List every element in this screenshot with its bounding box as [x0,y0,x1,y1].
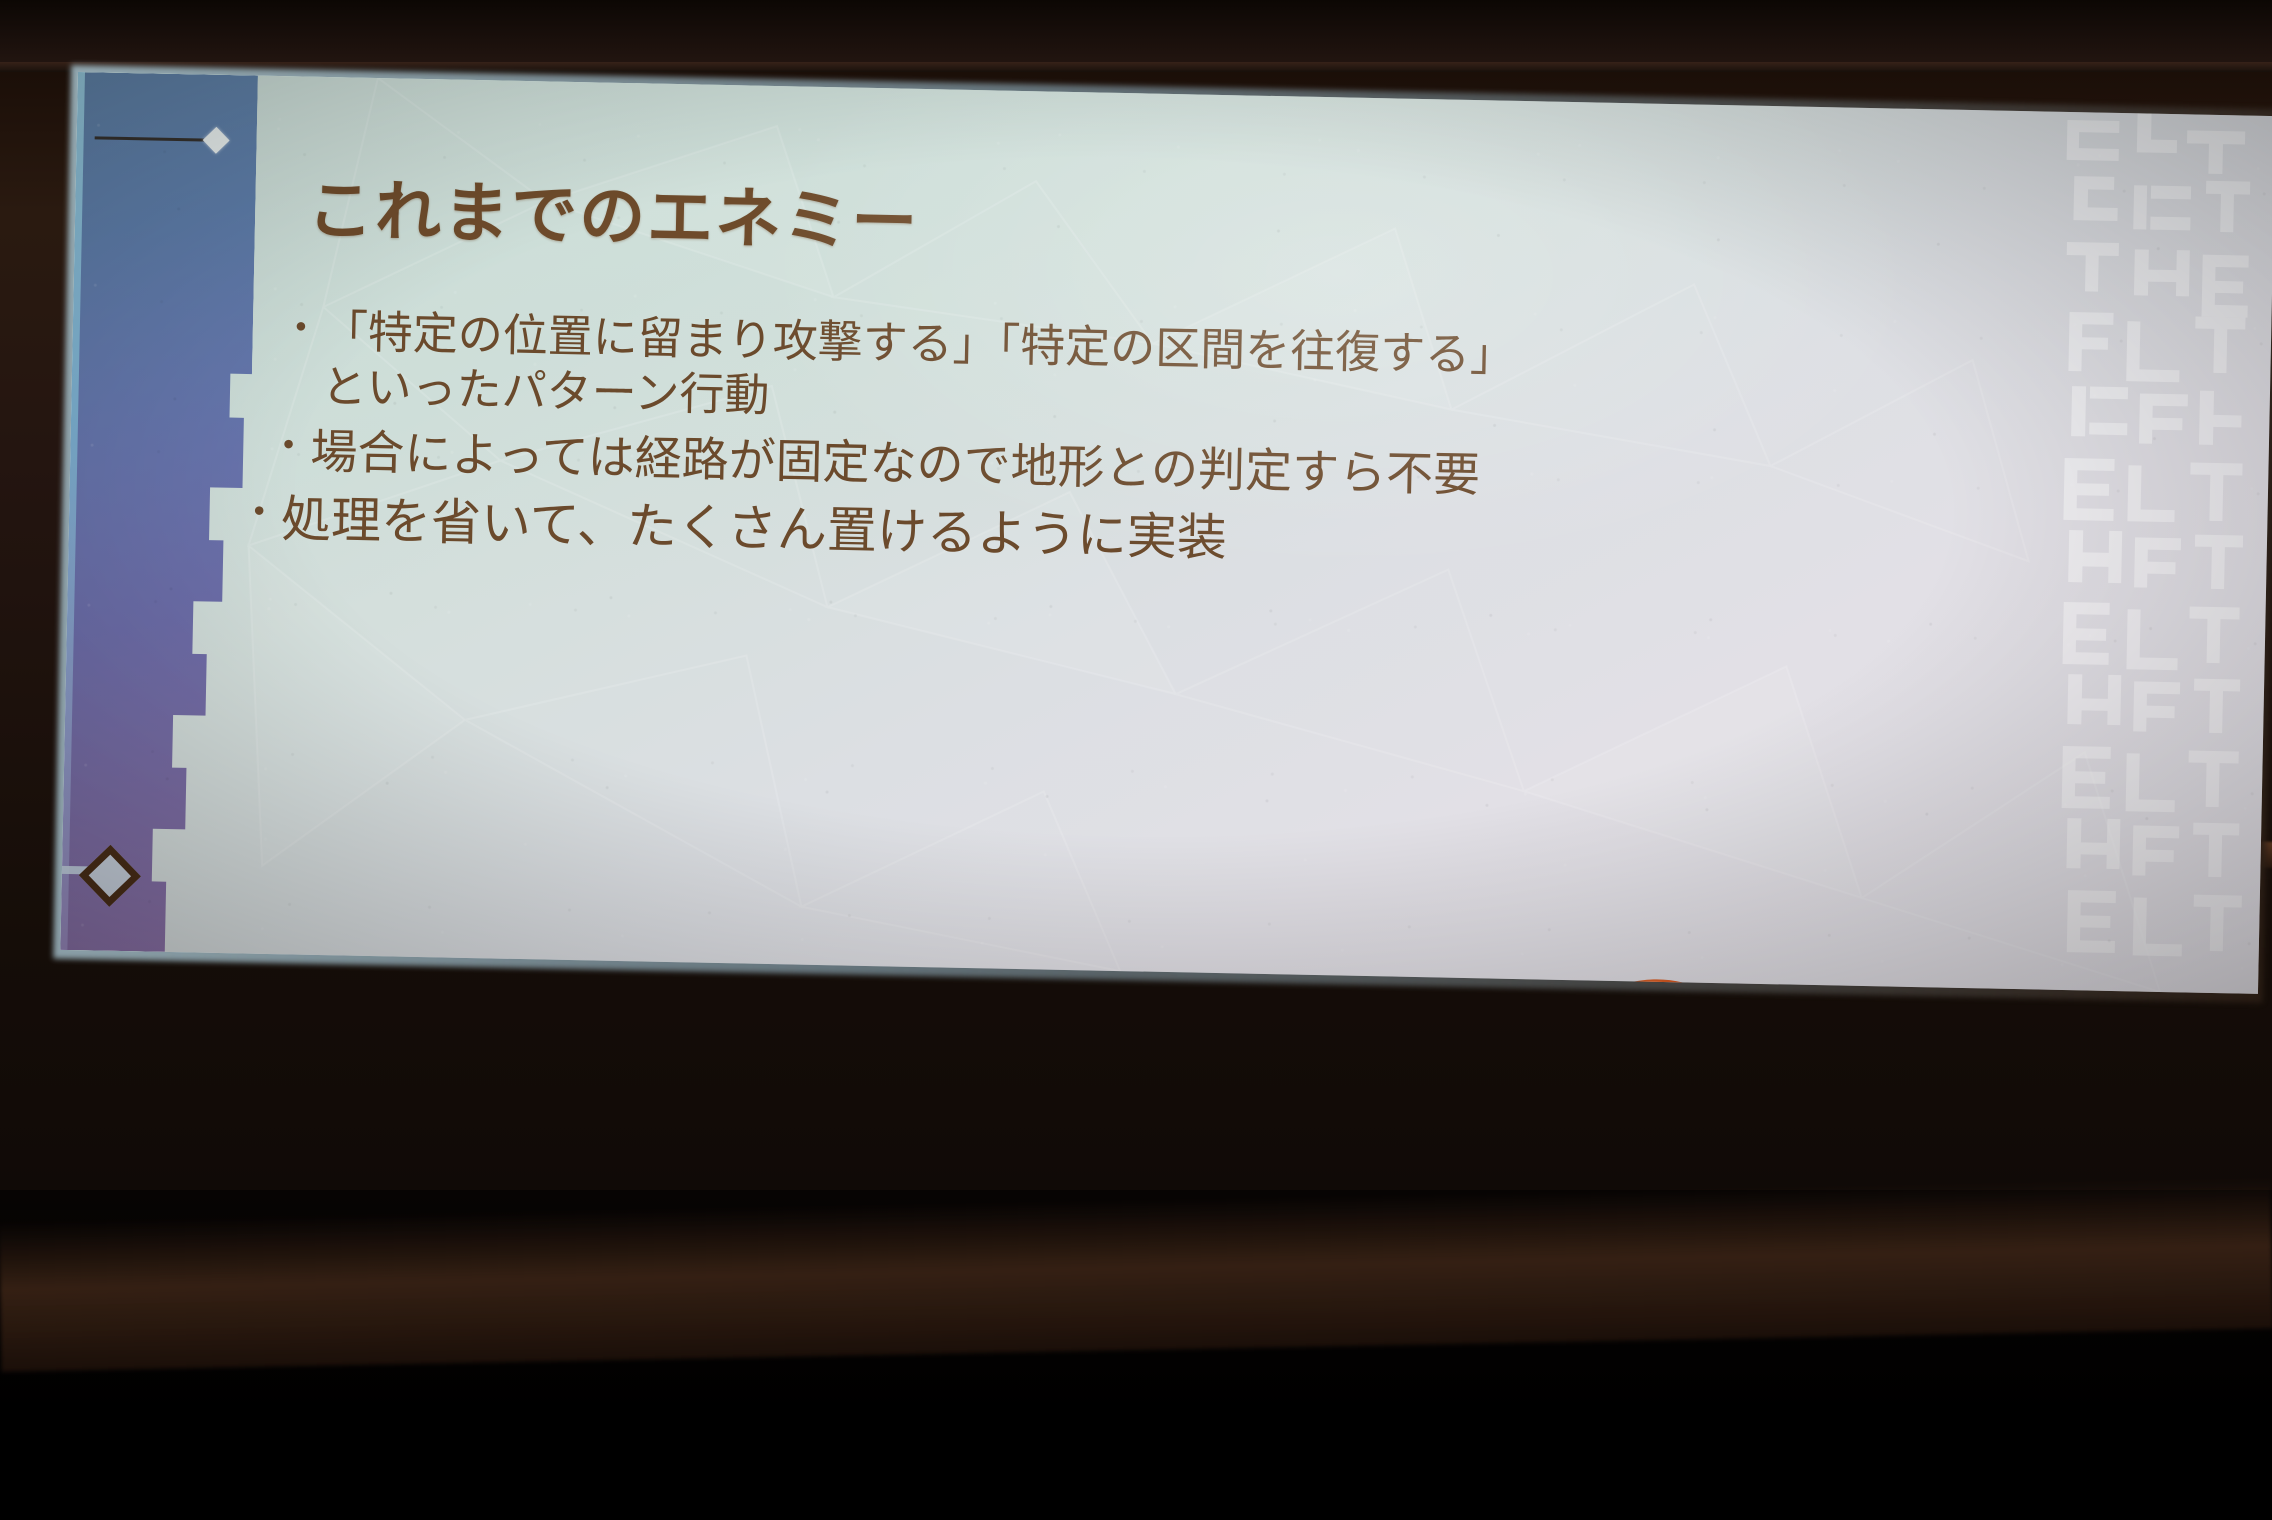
bullet-text: 場合によっては経路が固定なので地形との判定すら不要 [310,423,1481,504]
presentation-slide: これまでのエネミー ・ 「特定の位置に留まり攻撃する」「特定の区間を往復する」 … [60,72,2272,994]
bullet-text: 処理を省いて、たくさん置けるように実装 [280,489,1227,569]
wall-upper [0,0,2272,70]
bullet-marker: ・ [280,304,323,354]
marker-line [95,136,215,141]
bullet-text: 「特定の位置に留まり攻撃する」「特定の区間を往復する」 といったパターン行動 [321,305,1515,439]
ancient-rune-strip [2040,102,2268,994]
bullet-marker: ・ [239,488,282,538]
slide-body: ・ 「特定の位置に留まり攻撃する」「特定の区間を往復する」 といったパターン行動… [216,303,2011,591]
projection-screen: これまでのエネミー ・ 「特定の位置に留まり攻撃する」「特定の区間を往復する」 … [60,72,2272,994]
bullet-marker: ・ [268,422,311,472]
bottom-diamond-marker [60,847,170,892]
top-diamond-marker [95,128,245,149]
slide-title: これまでのエネミー [307,177,920,255]
